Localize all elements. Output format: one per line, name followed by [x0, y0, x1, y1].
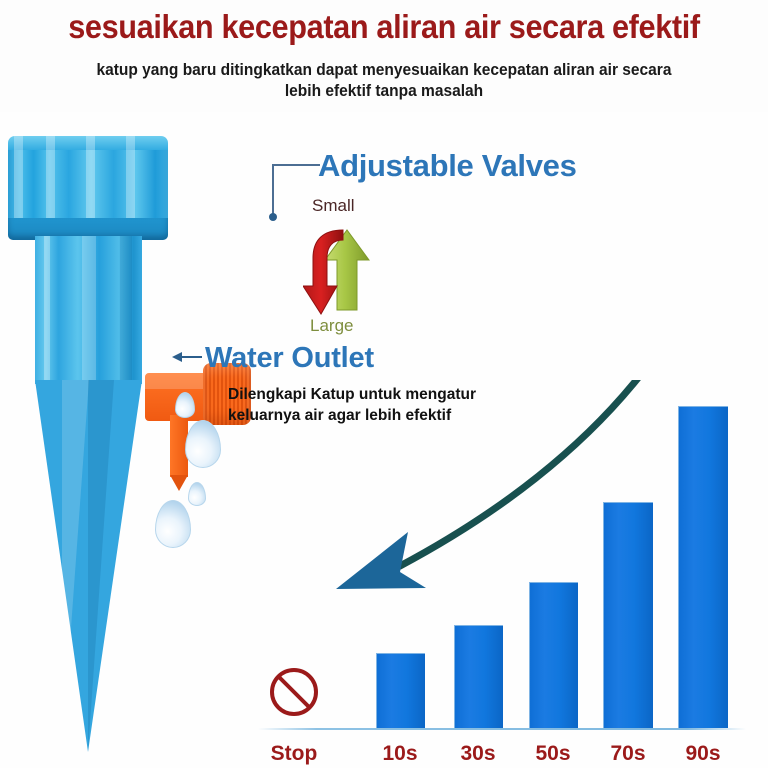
page-subtitle: katup yang baru ditingkatkan dapat menye…: [79, 60, 688, 102]
valves-leader-line-vertical: [272, 164, 274, 216]
water-drop-icon: [155, 500, 191, 548]
xlabel-50s: 50s: [523, 742, 583, 766]
chart-baseline: [258, 728, 746, 730]
valves-leader-line-horizontal: [272, 164, 320, 166]
spike-shadow: [88, 380, 114, 752]
xlabel-10s: 10s: [370, 742, 430, 766]
valves-leader-dot: [269, 213, 277, 221]
bar-30s: [454, 625, 503, 728]
xlabel-stop: Stop: [264, 742, 324, 766]
bar-50s: [529, 582, 578, 728]
bar-10s: [376, 653, 425, 728]
header-block: sesuaikan kecepatan aliran air secara ef…: [0, 0, 768, 112]
flow-rate-bar-chart: Stop 10s 30s 50s 70s 90s: [250, 380, 768, 768]
spike-highlight: [62, 380, 89, 752]
stop-slash: [276, 674, 311, 709]
orange-valve-tip-icon: [170, 475, 188, 491]
small-label: Small: [312, 196, 355, 216]
cap-notch: [14, 130, 23, 226]
stop-no-entry-icon: [270, 668, 318, 716]
xlabel-30s: 30s: [448, 742, 508, 766]
xlabel-70s: 70s: [598, 742, 658, 766]
large-label: Large: [310, 316, 353, 336]
bar-70s: [603, 502, 653, 728]
product-illustration: [0, 130, 270, 750]
infographic-canvas: sesuaikan kecepatan aliran air secara ef…: [0, 0, 768, 768]
xlabel-90s: 90s: [673, 742, 733, 766]
cap-notch: [46, 130, 55, 226]
barrel-rib: [82, 236, 96, 384]
barrel-rib: [120, 236, 132, 384]
water-outlet-label: Water Outlet: [205, 342, 374, 375]
bar-90s: [678, 406, 728, 728]
water-drop-icon: [188, 482, 206, 506]
cap-notch: [126, 130, 135, 226]
barrel-rib: [44, 236, 50, 384]
adjustable-valves-label: Adjustable Valves: [318, 148, 577, 184]
cap-notch: [86, 130, 95, 226]
water-drop-icon: [185, 420, 221, 468]
water-outlet-arrow-icon: [170, 348, 204, 366]
up-down-cycle-arrows-icon: [303, 224, 385, 318]
page-title: sesuaikan kecepatan aliran air secara ef…: [27, 8, 741, 46]
